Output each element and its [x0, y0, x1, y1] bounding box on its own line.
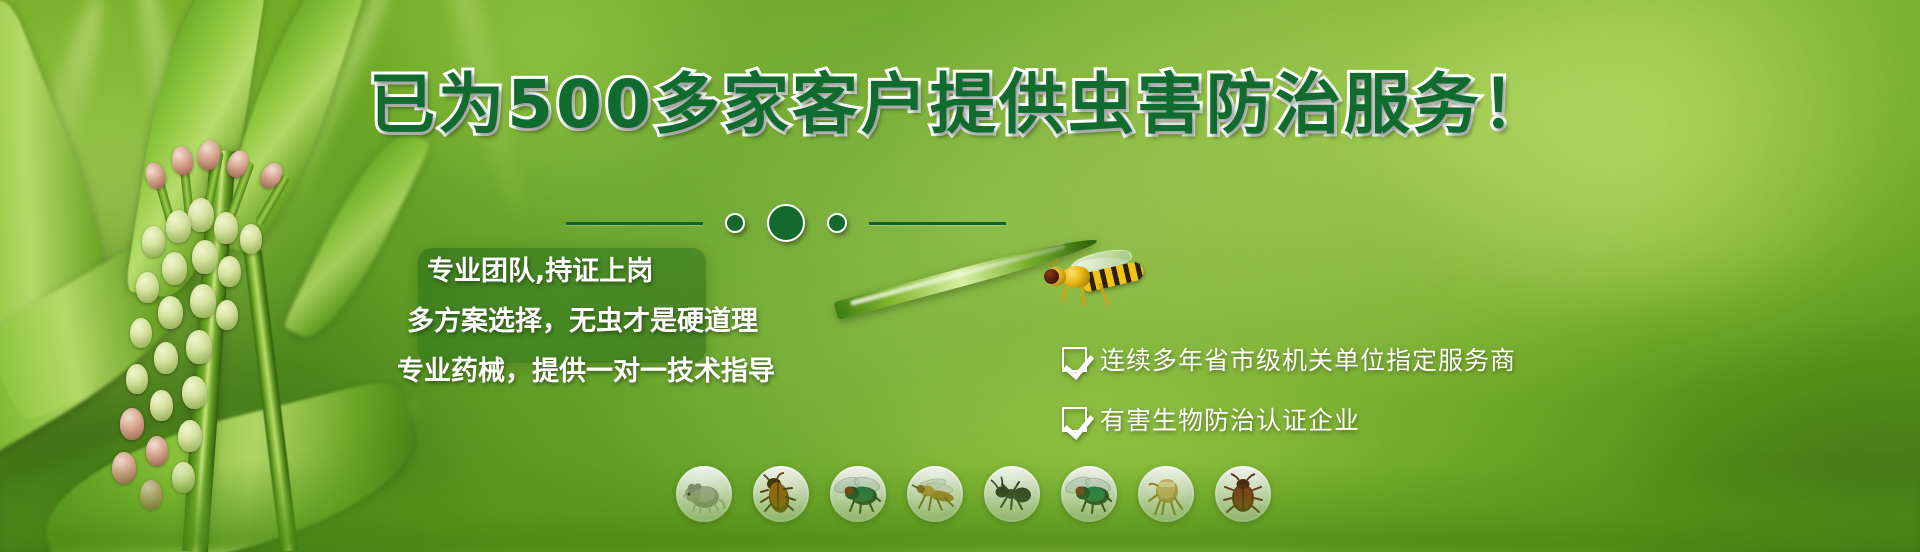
- list-item: 有害生物防治认证企业: [1062, 394, 1516, 444]
- greenbottle-fly-icon[interactable]: [1061, 466, 1117, 522]
- selling-point-line-2: 多方案选择，无虫才是硬道理: [407, 308, 845, 335]
- housefly-icon[interactable]: [830, 466, 886, 522]
- page-title: 已为500多家客户提供虫害防治服务！: [0, 72, 1920, 138]
- cockroach-icon[interactable]: [753, 466, 809, 522]
- pest-type-icon-strip: [676, 466, 1271, 522]
- divider-dot-small-right: [827, 213, 847, 233]
- divider-rule-left: [566, 222, 703, 225]
- checkbox-check-icon: [1062, 407, 1087, 432]
- checklist-label: 有害生物防治认证企业: [1100, 401, 1360, 437]
- checkbox-check-icon: [1062, 347, 1087, 372]
- mouse-icon[interactable]: [676, 466, 732, 522]
- divider-dot-large: [767, 204, 805, 242]
- list-item: 连续多年省市级机关单位指定服务商: [1062, 334, 1516, 384]
- mosquito-icon[interactable]: [907, 466, 963, 522]
- divider-rule-right: [869, 222, 1006, 225]
- selling-point-line-3: 专业药械，提供一对一技术指导: [397, 358, 845, 385]
- selling-points-text: 专业团队,持证上岗 多方案选择，无虫才是硬道理 专业药械，提供一对一技术指导: [415, 258, 845, 385]
- credentials-checklist: 连续多年省市级机关单位指定服务商 有害生物防治认证企业: [1062, 334, 1516, 444]
- divider-dot-small-left: [725, 213, 745, 233]
- checklist-label: 连续多年省市级机关单位指定服务商: [1100, 341, 1516, 377]
- hoverfly-icon: [1036, 250, 1156, 308]
- ant-icon[interactable]: [984, 466, 1040, 522]
- selling-point-line-1: 专业团队,持证上岗: [427, 258, 845, 285]
- pest-control-hero-banner: 已为500多家客户提供虫害防治服务！ 专业团队,持证上岗 多方案选择，无虫才是硬…: [0, 0, 1920, 552]
- bedbug-icon[interactable]: [1215, 466, 1271, 522]
- divider-decoration: [566, 206, 1006, 240]
- flea-icon[interactable]: [1138, 466, 1194, 522]
